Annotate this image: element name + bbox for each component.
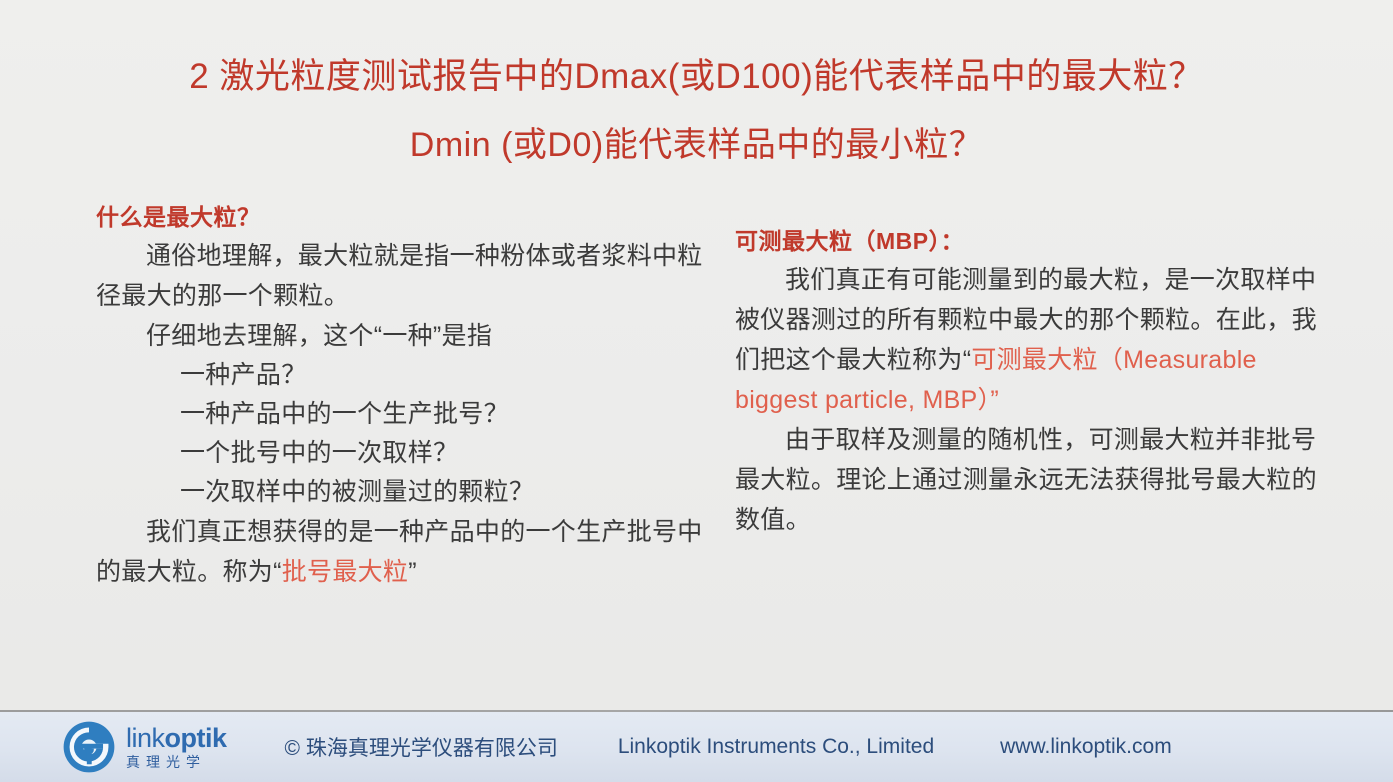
page-title: 2 激光粒度测试报告中的Dmax(或D100)能代表样品中的最大粒？ Dmin … <box>0 48 1393 174</box>
left-paragraph-3-highlight: 批号最大粒 <box>282 558 409 586</box>
brand-logo: linkoptik 真理光学 <box>62 720 227 774</box>
brand-wordmark-cn: 真理光学 <box>126 755 227 769</box>
footer-company-name: Linkoptik Instruments Co., Limited <box>618 735 934 759</box>
left-paragraph-1: 通俗地理解，最大粒就是指一种粉体或者浆料中粒径最大的那一个颗粒。 <box>96 236 706 316</box>
linkoptik-logo-icon <box>62 720 116 774</box>
left-column-heading: 什么是最大粒？ <box>96 200 706 234</box>
title-line-2: Dmin (或D0)能代表样品中的最小粒？ <box>0 116 1393 174</box>
title-line-1: 2 激光粒度测试报告中的Dmax(或D100)能代表样品中的最大粒？ <box>0 48 1393 106</box>
slide-root: 2 激光粒度测试报告中的Dmax(或D100)能代表样品中的最大粒？ Dmin … <box>0 0 1393 782</box>
brand-wordmark-thin: link <box>126 723 165 753</box>
left-column: 什么是最大粒？ 通俗地理解，最大粒就是指一种粉体或者浆料中粒径最大的那一个颗粒。… <box>96 200 706 592</box>
content-columns: 什么是最大粒？ 通俗地理解，最大粒就是指一种粉体或者浆料中粒径最大的那一个颗粒。… <box>0 200 1393 700</box>
left-bullet-3: 一个批号中的一次取样？ <box>96 434 706 473</box>
right-paragraph-1-suffix: ” <box>990 386 999 414</box>
left-bullet-1: 一种产品？ <box>96 356 706 395</box>
brand-wordmark-bold: optik <box>165 723 227 753</box>
left-bullet-2: 一种产品中的一个生产批号？ <box>96 395 706 434</box>
brand-wordmark-text: linkoptik <box>126 725 227 752</box>
left-bullet-4: 一次取样中的被测量过的颗粒？ <box>96 473 706 512</box>
left-paragraph-2: 仔细地去理解，这个“一种”是指 <box>96 316 706 356</box>
right-column-heading: 可测最大粒（MBP）： <box>735 224 1335 258</box>
right-paragraph-2: 由于取样及测量的随机性，可测最大粒并非批号最大粒。理论上通过测量永远无法获得批号… <box>735 420 1335 540</box>
right-column: 可测最大粒（MBP）： 我们真正有可能测量到的最大粒，是一次取样中被仪器测过的所… <box>735 200 1335 540</box>
footer-copyright: © 珠海真理光学仪器有限公司 <box>285 732 558 762</box>
left-paragraph-3-suffix: ” <box>408 558 417 586</box>
right-paragraph-1: 我们真正有可能测量到的最大粒，是一次取样中被仪器测过的所有颗粒中最大的那个颗粒。… <box>735 260 1335 420</box>
left-paragraph-3: 我们真正想获得的是一种产品中的一个生产批号中的最大粒。称为“批号最大粒” <box>96 512 706 592</box>
brand-wordmark: linkoptik 真理光学 <box>126 725 227 769</box>
footer-bar: linkoptik 真理光学 © 珠海真理光学仪器有限公司 Linkoptik … <box>0 712 1393 782</box>
footer-website-url[interactable]: www.linkoptik.com <box>1000 735 1172 759</box>
